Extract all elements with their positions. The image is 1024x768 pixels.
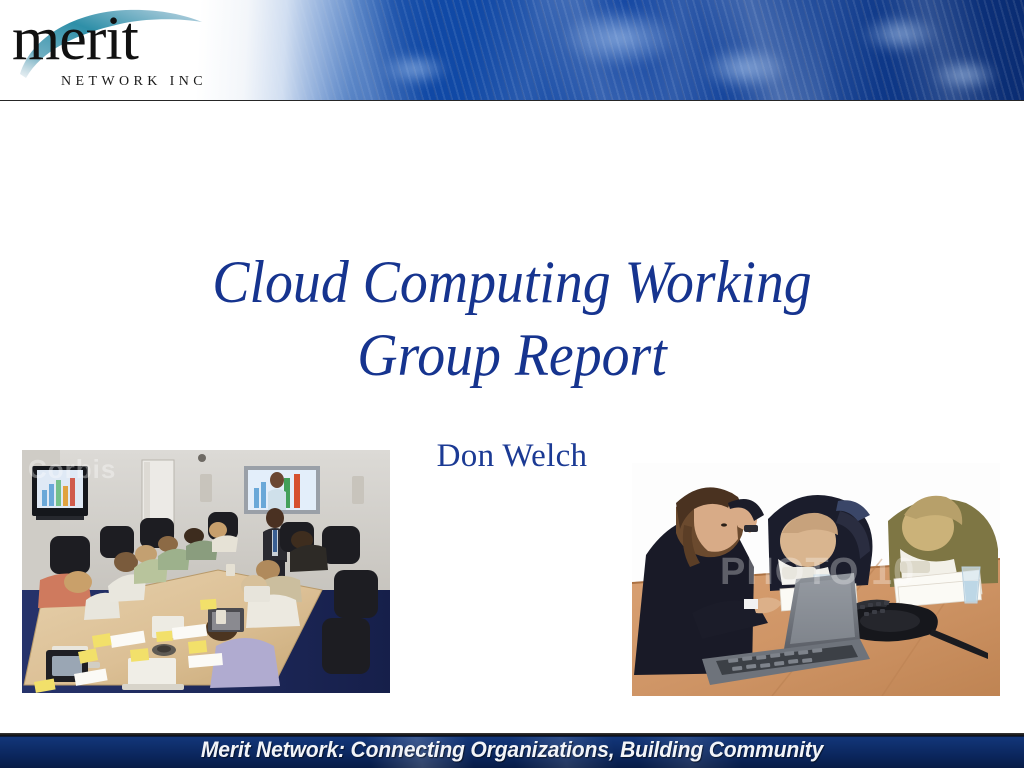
- header-bottom-rule: [0, 100, 1024, 101]
- slide-title-line-2: Group Report: [140, 319, 884, 392]
- slide-title-line-1: Cloud Computing Working: [140, 246, 884, 319]
- conference-room-illustration: [22, 450, 390, 693]
- header-glow-spot: [860, 14, 940, 54]
- slide-header-banner: merit NETWORK INC: [0, 0, 1024, 101]
- merit-network-logo: merit NETWORK INC: [6, 2, 236, 98]
- logo-wordmark: merit: [12, 8, 138, 70]
- photo-three-bored-businesspeople: PHOTO 10: [632, 463, 1000, 696]
- footer-tagline: Merit Network: Connecting Organizations,…: [20, 737, 1003, 763]
- bored-businesspeople-illustration: [632, 463, 1000, 696]
- header-glow-spot: [700, 46, 790, 90]
- presentation-slide: merit NETWORK INC Cloud Computing Workin…: [0, 0, 1024, 768]
- logo-subtitle: NETWORK INC: [61, 74, 207, 90]
- header-glow-spot: [560, 8, 680, 68]
- slide-title: Cloud Computing Working Group Report: [140, 246, 884, 392]
- header-glow-spot: [930, 58, 1000, 92]
- photo-conference-room-sleeping-audience: Corbis: [22, 450, 390, 693]
